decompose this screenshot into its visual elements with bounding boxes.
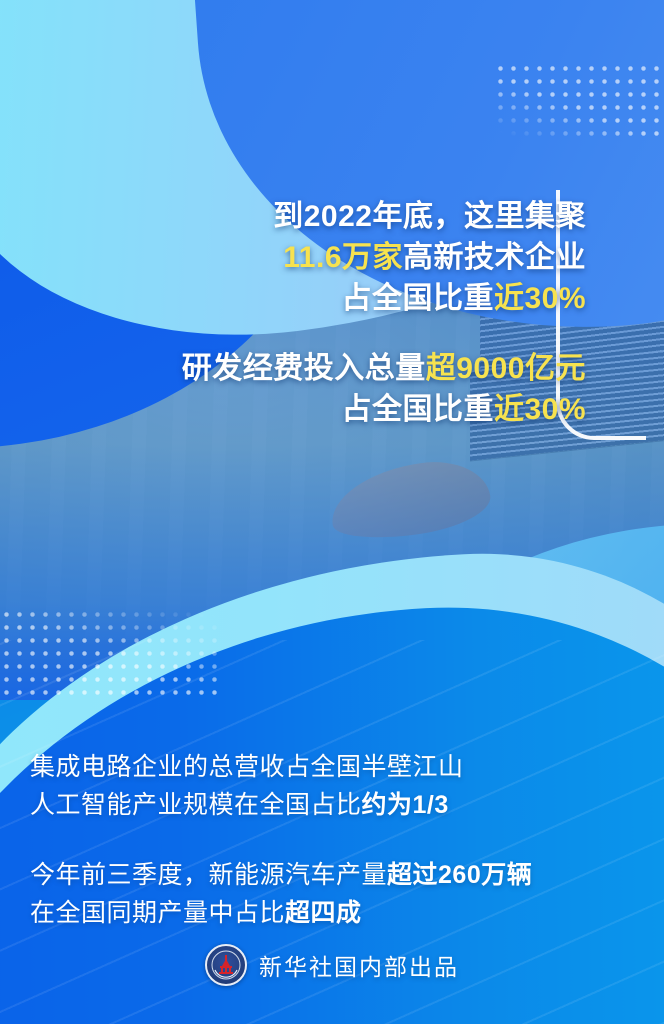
lower-text-line: 在全国同期产量中占比超四成 <box>30 894 650 932</box>
headline-segment: 占全国比重 <box>341 393 494 426</box>
headline-line: 占全国比重近30% <box>146 389 586 430</box>
headline-block-2: 研发经费投入总量超9000亿元 占全国比重近30% <box>146 348 586 430</box>
headline-segment: 到2022年底，这里集聚 <box>273 200 586 233</box>
xinhua-news-agency-logo-icon <box>205 944 247 986</box>
lower-text-line: 集成电路企业的总营收占全国半壁江山 <box>30 748 630 786</box>
footer-text: 新华社国内部出品 <box>259 948 459 982</box>
lower-text-block-2: 今年前三季度，新能源汽车产量超过260万辆 在全国同期产量中占比超四成 <box>30 856 650 932</box>
lower-text-segment-bold: 约为1/3 <box>362 791 449 819</box>
headline-segment-highlight: 超9000亿元 <box>426 352 586 385</box>
lower-text-segment-bold: 超四成 <box>285 899 362 927</box>
headline-segment-highlight: 11.6万家 <box>283 241 403 274</box>
lower-text-segment: 人工智能产业规模在全国占比 <box>30 791 362 819</box>
headline-segment: 占全国比重 <box>341 282 494 315</box>
headline-segment-highlight: 近30% <box>494 282 586 315</box>
lower-text-segment: 集成电路企业的总营收占全国半壁江山 <box>30 753 464 781</box>
lower-text-line: 人工智能产业规模在全国占比约为1/3 <box>30 786 630 824</box>
headline-line: 11.6万家高新技术企业 <box>166 237 586 278</box>
headline-line: 到2022年底，这里集聚 <box>166 196 586 237</box>
headline-line: 研发经费投入总量超9000亿元 <box>146 348 586 389</box>
headline-segment: 高新技术企业 <box>403 241 586 274</box>
infographic-poster: 到2022年底，这里集聚 11.6万家高新技术企业 占全国比重近30% 研发经费… <box>0 0 664 1024</box>
lower-text-block-1: 集成电路企业的总营收占全国半壁江山 人工智能产业规模在全国占比约为1/3 <box>30 748 630 824</box>
lower-text-segment: 在全国同期产量中占比 <box>30 899 285 927</box>
headline-segment: 研发经费投入总量 <box>182 352 426 385</box>
lower-text-segment-bold: 超过260万辆 <box>387 861 532 889</box>
lower-text-line: 今年前三季度，新能源汽车产量超过260万辆 <box>30 856 650 894</box>
headline-segment-highlight: 近30% <box>494 393 586 426</box>
headline-block-1: 到2022年底，这里集聚 11.6万家高新技术企业 占全国比重近30% <box>166 196 586 319</box>
lower-text-segment: 今年前三季度，新能源汽车产量 <box>30 861 387 889</box>
headline-line: 占全国比重近30% <box>166 278 586 319</box>
footer: 新华社国内部出品 <box>0 938 664 992</box>
